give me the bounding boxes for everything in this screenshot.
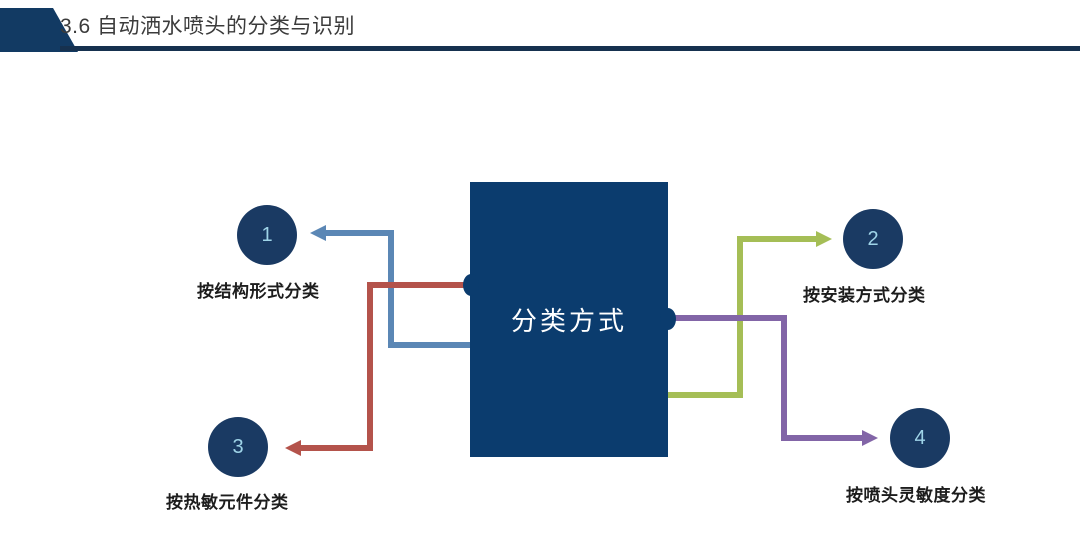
node-label-1: 按结构形式分类 — [197, 277, 320, 302]
connector-port-right-icon — [660, 308, 676, 330]
node-circle-1[interactable]: 1 — [237, 205, 297, 265]
connector-4-purple — [672, 318, 878, 446]
node-number-2: 2 — [867, 228, 878, 251]
connector-3-red — [285, 285, 470, 456]
slide-canvas: 3.6 自动洒水喷头的分类与识别 分类方式 1 — [0, 0, 1080, 542]
node-label-2: 按安装方式分类 — [803, 281, 926, 306]
node-label-3: 按热敏元件分类 — [166, 488, 289, 513]
node-number-1: 1 — [261, 224, 272, 247]
connector-port-left-icon — [463, 274, 479, 296]
connector-2-green — [668, 231, 832, 395]
node-label-4: 按喷头灵敏度分类 — [846, 481, 986, 506]
node-circle-3[interactable]: 3 — [208, 417, 268, 477]
node-number-3: 3 — [232, 436, 243, 459]
central-node-box[interactable]: 分类方式 — [470, 182, 668, 457]
node-number-4: 4 — [914, 427, 925, 450]
central-node-label: 分类方式 — [470, 182, 668, 457]
node-circle-2[interactable]: 2 — [843, 209, 903, 269]
node-circle-4[interactable]: 4 — [890, 408, 950, 468]
